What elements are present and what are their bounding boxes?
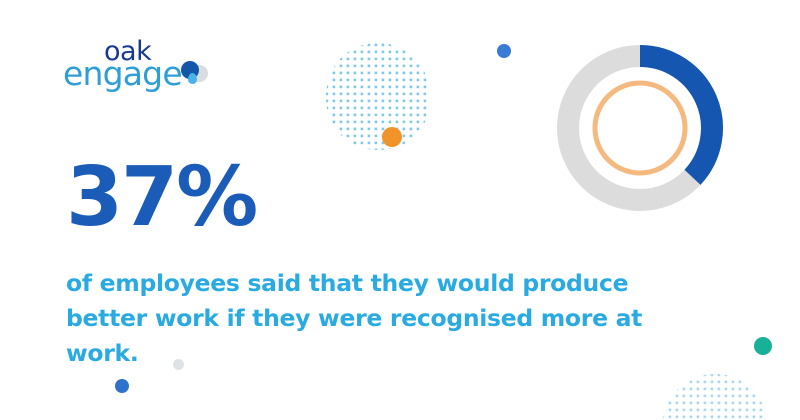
stat-description: of employees said that they would produc…: [66, 266, 706, 371]
logo-mark-droplet: [188, 73, 197, 84]
dotted-blob-bottom-icon: [660, 372, 770, 420]
logo-word-engage: engage: [63, 57, 182, 91]
donut-chart: [548, 36, 732, 220]
teal-dot-icon: [754, 337, 772, 355]
oak-engage-logo: oak engage: [92, 38, 212, 100]
blue-dot-top-icon: [497, 44, 511, 58]
dotted-blob-top-icon: [324, 42, 432, 152]
donut-value-arc: [640, 56, 712, 177]
infographic-canvas: oak engage: [0, 0, 800, 420]
oak-engage-droplet-mark-icon: [180, 60, 210, 88]
stat-value: 37%: [66, 152, 256, 244]
blue-dot-bottom-icon: [115, 379, 129, 393]
donut-inner-orange-ring: [595, 83, 685, 173]
orange-dot-icon: [382, 127, 402, 147]
